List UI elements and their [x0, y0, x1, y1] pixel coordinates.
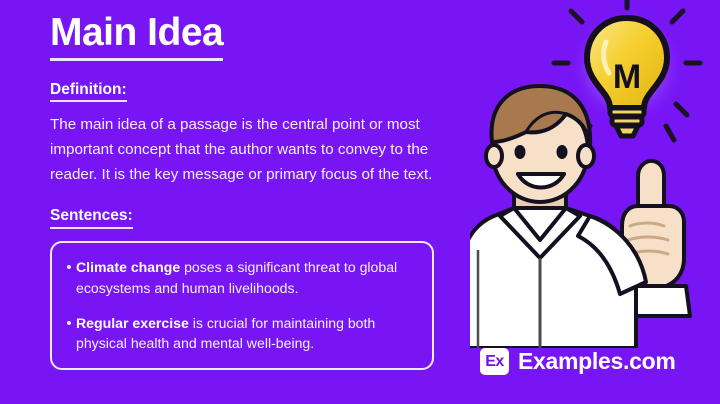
- person-pointing-at-lightbulb-icon: M: [470, 0, 720, 348]
- logo-text: Examples.com: [518, 348, 675, 375]
- slide-canvas: Main Idea Definition: The main idea of a…: [0, 0, 720, 404]
- sentences-box: • Climate change poses a significant thr…: [50, 241, 434, 370]
- bullet-icon: •: [62, 257, 76, 278]
- page-title-row: Main Idea: [50, 12, 450, 61]
- bullet-icon: •: [62, 313, 76, 334]
- list-item-keyword: Regular exercise: [76, 315, 189, 331]
- list-item-text: Climate change poses a significant threa…: [76, 257, 418, 299]
- list-item: • Regular exercise is crucial for mainta…: [62, 313, 418, 355]
- sentences-label: Sentences:: [50, 207, 133, 229]
- list-item: • Climate change poses a significant thr…: [62, 257, 418, 299]
- illustration: M: [470, 0, 720, 348]
- brand-logo[interactable]: Ex Examples.com: [480, 348, 675, 375]
- page-title: Main Idea: [50, 12, 223, 61]
- list-item-keyword: Climate change: [76, 259, 180, 275]
- logo-mark-icon: Ex: [480, 348, 509, 375]
- text-content: Main Idea Definition: The main idea of a…: [50, 12, 450, 370]
- definition-label-row: Definition:: [50, 81, 450, 103]
- sentences-label-row: Sentences:: [50, 207, 450, 229]
- definition-text: The main idea of a passage is the centra…: [50, 113, 440, 187]
- definition-label: Definition:: [50, 81, 127, 103]
- list-item-text: Regular exercise is crucial for maintain…: [76, 313, 418, 355]
- svg-text:M: M: [613, 58, 641, 96]
